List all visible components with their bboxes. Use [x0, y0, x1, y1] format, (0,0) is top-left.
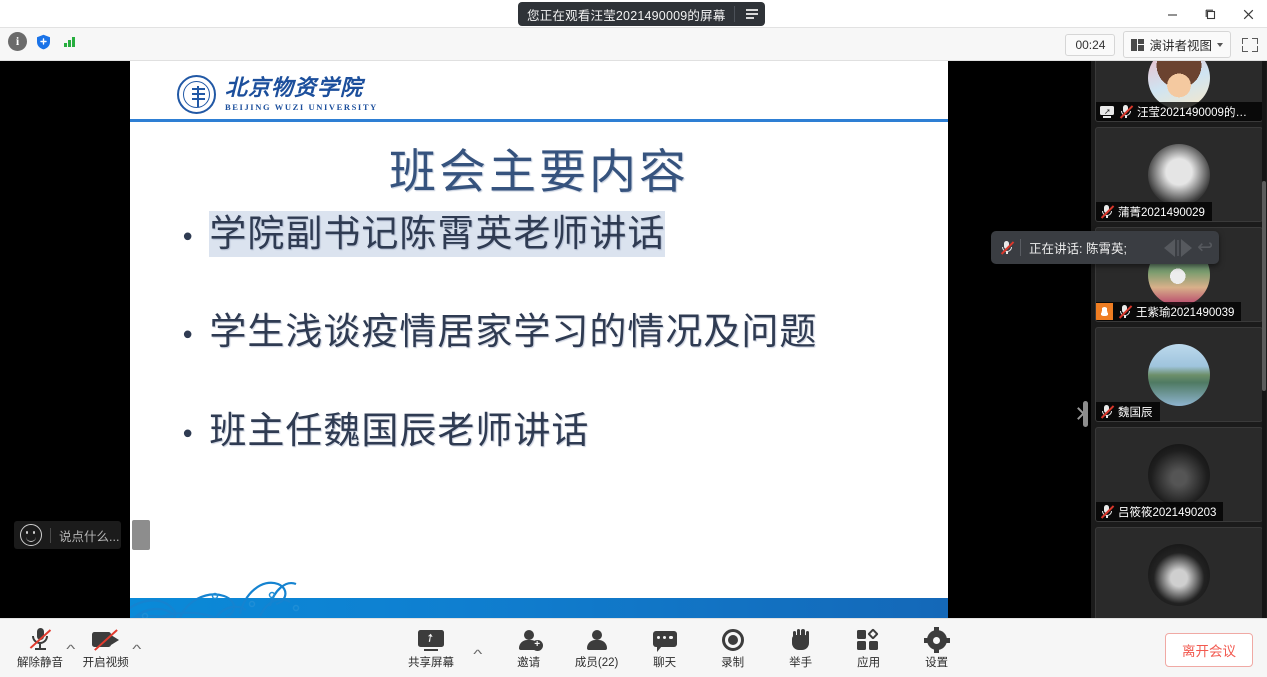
mic-muted-icon [1100, 404, 1113, 419]
host-person-icon [1096, 303, 1113, 320]
slide-title: 班会主要内容 [130, 133, 948, 202]
gear-icon [926, 629, 948, 651]
participant-tile[interactable]: 魏国辰 [1095, 327, 1263, 422]
info-icon[interactable]: i [8, 32, 27, 51]
logo-english-name: BEIJING WUZI UNIVERSITY [225, 102, 378, 112]
participant-name: 吕筱筱2021490203 [1118, 504, 1216, 520]
record-button[interactable]: 录制 [707, 627, 759, 670]
meeting-toolbar: 解除静音 ^ 开启视频 ^ ➚ 共享屏幕 ^ + 邀请 成员(22) [0, 618, 1267, 677]
video-options-chevron-up-icon[interactable]: ^ [132, 642, 141, 656]
divider [1177, 240, 1179, 256]
shield-encryption-icon[interactable] [34, 32, 53, 51]
participant-namebar: ➚ 汪莹2021490009的屏... [1096, 102, 1262, 121]
hamburger-menu-icon[interactable] [741, 4, 763, 24]
bullet-text: 学院副书记陈霄英老师讲话 [209, 211, 665, 257]
share-screen-label: 共享屏幕 [408, 654, 454, 670]
mic-muted-icon [1000, 240, 1013, 255]
invite-button[interactable]: + 邀请 [503, 627, 555, 670]
next-triangle-icon[interactable] [1181, 239, 1192, 257]
list-item: • 学生浅谈疫情居家学习的情况及问题 [180, 309, 940, 355]
wave-graphic [130, 566, 390, 618]
speaking-nav: ↩ [1164, 238, 1213, 257]
prev-triangle-icon[interactable] [1164, 239, 1175, 257]
unmute-button[interactable]: 解除静音 [14, 627, 66, 670]
meeting-timer: 00:24 [1065, 34, 1115, 56]
avatar [1148, 444, 1210, 506]
speaking-text: 正在讲话: 陈霄英; [1029, 238, 1127, 257]
status-icons: i [8, 32, 79, 51]
participant-filmstrip[interactable]: ➚ 汪莹2021490009的屏... 蒲菁2021490029 王紫瑜2021… [1091, 61, 1267, 618]
speaking-notification: 正在讲话: 陈霄英; ↩ [991, 231, 1219, 264]
meeting-window: 您正在观看汪莹2021490009的屏幕 i 00:24 [0, 0, 1267, 677]
speaker-view-icon [1131, 39, 1144, 51]
mic-muted-icon [1119, 104, 1132, 119]
participant-tile[interactable]: 吕筱筱2021490203 [1095, 427, 1263, 522]
avatar [1148, 144, 1210, 206]
slide-bullet-list: • 学院副书记陈霄英老师讲话 • 学生浅谈疫情居家学习的情况及问题 • 班主任魏… [180, 211, 940, 454]
settings-button[interactable]: 设置 [911, 627, 963, 670]
info-glyph: i [16, 34, 19, 49]
list-item: • 学院副书记陈霄英老师讲话 [180, 211, 940, 257]
meeting-stage: 北京物资学院 BEIJING WUZI UNIVERSITY 班会主要内容 • … [0, 61, 1267, 618]
avatar [1148, 344, 1210, 406]
close-icon[interactable] [1229, 0, 1267, 28]
participant-tile[interactable]: 蒲菁2021490029 [1095, 127, 1263, 222]
raise-hand-label: 举手 [789, 654, 812, 670]
participant-namebar: 魏国辰 [1096, 402, 1160, 421]
bullet-text: 班主任魏国辰老师讲话 [209, 408, 589, 454]
settings-label: 设置 [925, 654, 948, 670]
chat-collapse-handle[interactable] [132, 520, 150, 550]
slide-wave-decoration [130, 558, 948, 618]
record-label: 录制 [721, 654, 744, 670]
university-logo: 北京物资学院 BEIJING WUZI UNIVERSITY [177, 75, 378, 114]
avatar [1148, 544, 1210, 606]
maximize-icon[interactable] [1191, 0, 1229, 28]
viewing-notice-text: 您正在观看汪莹2021490009的屏幕 [527, 5, 726, 24]
viewing-screen-notice: 您正在观看汪莹2021490009的屏幕 [518, 2, 765, 26]
participant-namebar: 吕筱筱2021490203 [1096, 502, 1223, 521]
toolbar-center-group: ➚ 共享屏幕 ^ + 邀请 成员(22) 聊天 录制 举手 [405, 627, 963, 670]
apps-button[interactable]: 应用 [843, 627, 895, 670]
camera-off-icon [92, 629, 120, 651]
bullet-marker: • [180, 309, 195, 349]
minimize-icon[interactable] [1153, 0, 1191, 28]
logo-chinese-name: 北京物资学院 [225, 77, 378, 100]
participants-icon [585, 629, 609, 651]
divider [1020, 239, 1021, 256]
mic-muted-icon [1118, 304, 1131, 319]
participant-tile[interactable] [1095, 527, 1263, 618]
participants-label: 成员(22) [575, 654, 618, 670]
participants-button[interactable]: 成员(22) [571, 627, 623, 670]
share-options-chevron-up-icon[interactable]: ^ [473, 647, 482, 661]
participant-name: 魏国辰 [1118, 404, 1153, 420]
mic-muted-icon [29, 627, 51, 651]
participant-name: 汪莹2021490009的屏... [1137, 104, 1255, 120]
toolbar-left-group: 解除静音 ^ 开启视频 ^ [14, 627, 145, 670]
apps-icon [857, 629, 880, 651]
audio-options-chevron-up-icon[interactable]: ^ [66, 642, 75, 656]
record-icon [722, 629, 744, 651]
chat-button[interactable]: 聊天 [639, 627, 691, 670]
apps-label: 应用 [857, 654, 880, 670]
mic-muted-icon [1100, 204, 1113, 219]
chat-input-overlay[interactable]: 说点什么... [14, 521, 121, 549]
chevron-down-icon [1217, 43, 1223, 47]
divider [734, 6, 735, 22]
unmute-label: 解除静音 [17, 654, 63, 670]
shared-screen-slide[interactable]: 北京物资学院 BEIJING WUZI UNIVERSITY 班会主要内容 • … [130, 61, 948, 618]
bullet-marker: • [180, 211, 195, 251]
view-mode-label: 演讲者视图 [1149, 35, 1212, 54]
share-screen-icon: ➚ [418, 629, 444, 651]
chat-bubble-icon [653, 630, 677, 651]
chat-input-placeholder[interactable]: 说点什么... [59, 526, 119, 545]
bullet-text: 学生浅谈疫情居家学习的情况及问题 [209, 309, 817, 355]
leave-meeting-button[interactable]: 离开会议 [1165, 633, 1253, 667]
participant-name: 蒲菁2021490029 [1118, 204, 1205, 220]
list-item: • 班主任魏国辰老师讲话 [180, 408, 940, 454]
mic-muted-icon [1100, 504, 1113, 519]
divider [50, 528, 51, 543]
meeting-info-bar: i 00:24 演讲者视图 [0, 28, 1267, 61]
raise-hand-icon [790, 628, 812, 651]
screen-share-icon: ➚ [1100, 106, 1114, 118]
meeting-controls-right: 00:24 演讲者视图 [1065, 31, 1261, 58]
title-bar: 您正在观看汪莹2021490009的屏幕 [0, 0, 1267, 28]
participant-tile[interactable]: ➚ 汪莹2021490009的屏... [1095, 61, 1263, 122]
emoji-smiley-icon[interactable] [20, 524, 42, 546]
raise-hand-button[interactable]: 举手 [775, 627, 827, 670]
window-controls [1153, 0, 1267, 28]
start-video-label: 开启视频 [83, 654, 129, 670]
university-seal-icon [177, 75, 216, 114]
logo-text-block: 北京物资学院 BEIJING WUZI UNIVERSITY [225, 77, 378, 111]
chat-label: 聊天 [653, 654, 676, 670]
participant-namebar: 蒲菁2021490029 [1096, 202, 1212, 221]
invite-label: 邀请 [517, 654, 540, 670]
network-signal-icon[interactable] [60, 36, 79, 47]
share-screen-button[interactable]: ➚ 共享屏幕 [405, 627, 457, 670]
start-video-button[interactable]: 开启视频 [80, 627, 132, 670]
fullscreen-icon[interactable] [1239, 34, 1261, 56]
filmstrip-scrollbar[interactable] [1262, 181, 1266, 391]
stage-scrollbar[interactable] [1083, 401, 1088, 427]
participant-name: 王紫瑜2021490039 [1136, 304, 1234, 320]
participant-namebar: 王紫瑜2021490039 [1096, 302, 1241, 321]
bullet-marker: • [180, 408, 195, 448]
return-arrow-icon[interactable]: ↩ [1197, 238, 1213, 257]
slide-divider [130, 119, 948, 122]
view-mode-selector[interactable]: 演讲者视图 [1123, 31, 1231, 58]
invite-person-icon: + [517, 629, 541, 651]
